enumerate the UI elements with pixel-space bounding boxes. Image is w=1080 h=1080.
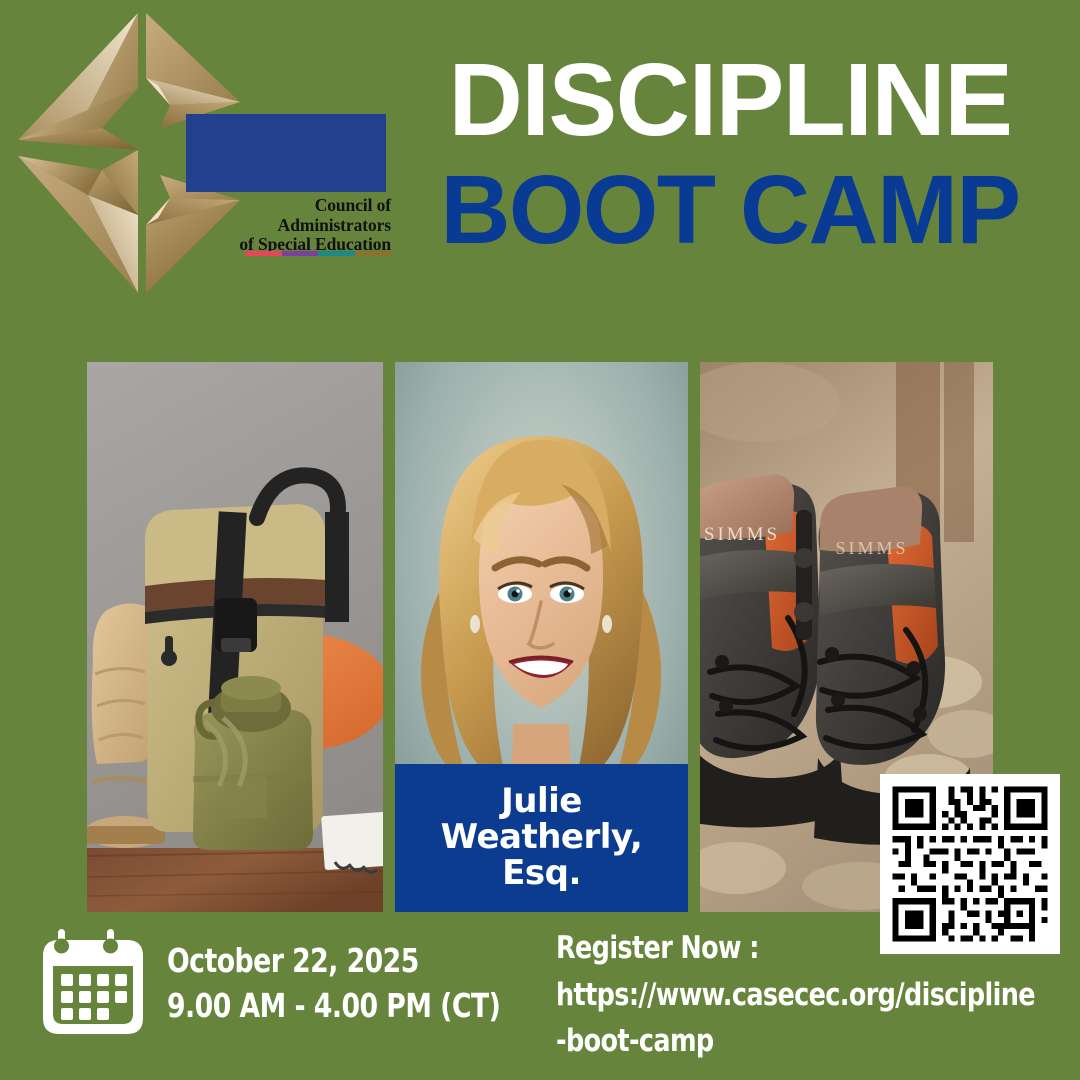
case-tagline-line-2: Administrators (186, 216, 391, 236)
poster-headline: DISCIPLINE BOOT CAMP (392, 52, 1068, 255)
registration-block[interactable]: Register Now : https://www.casecec.org/d… (556, 925, 1024, 1065)
headline-line-boot-camp: BOOT CAMP (392, 165, 1068, 255)
case-wordmark-text: CASE (188, 117, 384, 189)
boot-brand-label-right: SIMMS (835, 538, 908, 558)
case-tagline: Council of Administrators of Special Edu… (186, 196, 391, 255)
case-tagline-line-1: Council of (186, 196, 391, 216)
gear-photo-image (87, 362, 383, 912)
case-wordmark-box: CASE (186, 114, 386, 192)
headline-line-discipline: DISCIPLINE (392, 52, 1068, 148)
event-date-block: October 22, 2025 9.00 AM - 4.00 PM (CT) (33, 924, 537, 1044)
event-date-line: October 22, 2025 (167, 939, 500, 984)
poster-canvas: CASE Council of Administrators of Specia… (0, 0, 1080, 1080)
registration-url-line-2[interactable]: -boot-camp (556, 1018, 1024, 1065)
rule-segment-1 (245, 251, 282, 256)
event-date-text: October 22, 2025 9.00 AM - 4.00 PM (CT) (167, 939, 500, 1029)
rule-segment-3 (318, 251, 355, 256)
calendar-icon (33, 924, 153, 1044)
speaker-name-banner: Julie Weatherly, Esq. (395, 764, 688, 912)
rule-segment-2 (282, 251, 319, 256)
boot-brand-label-left: SIMMS (704, 524, 780, 545)
registration-url-line-1[interactable]: https://www.casecec.org/discipline (556, 972, 1024, 1019)
gear-photo-panel (87, 362, 383, 912)
case-logo: CASE Council of Administrators of Specia… (8, 8, 388, 293)
register-now-label: Register Now : (556, 925, 1024, 972)
speaker-name-text: Julie Weatherly, Esq. (441, 784, 643, 891)
event-time-line: 9.00 AM - 4.00 PM (CT) (167, 984, 500, 1029)
rule-segment-4 (355, 251, 392, 256)
case-tagline-rule (245, 251, 391, 256)
